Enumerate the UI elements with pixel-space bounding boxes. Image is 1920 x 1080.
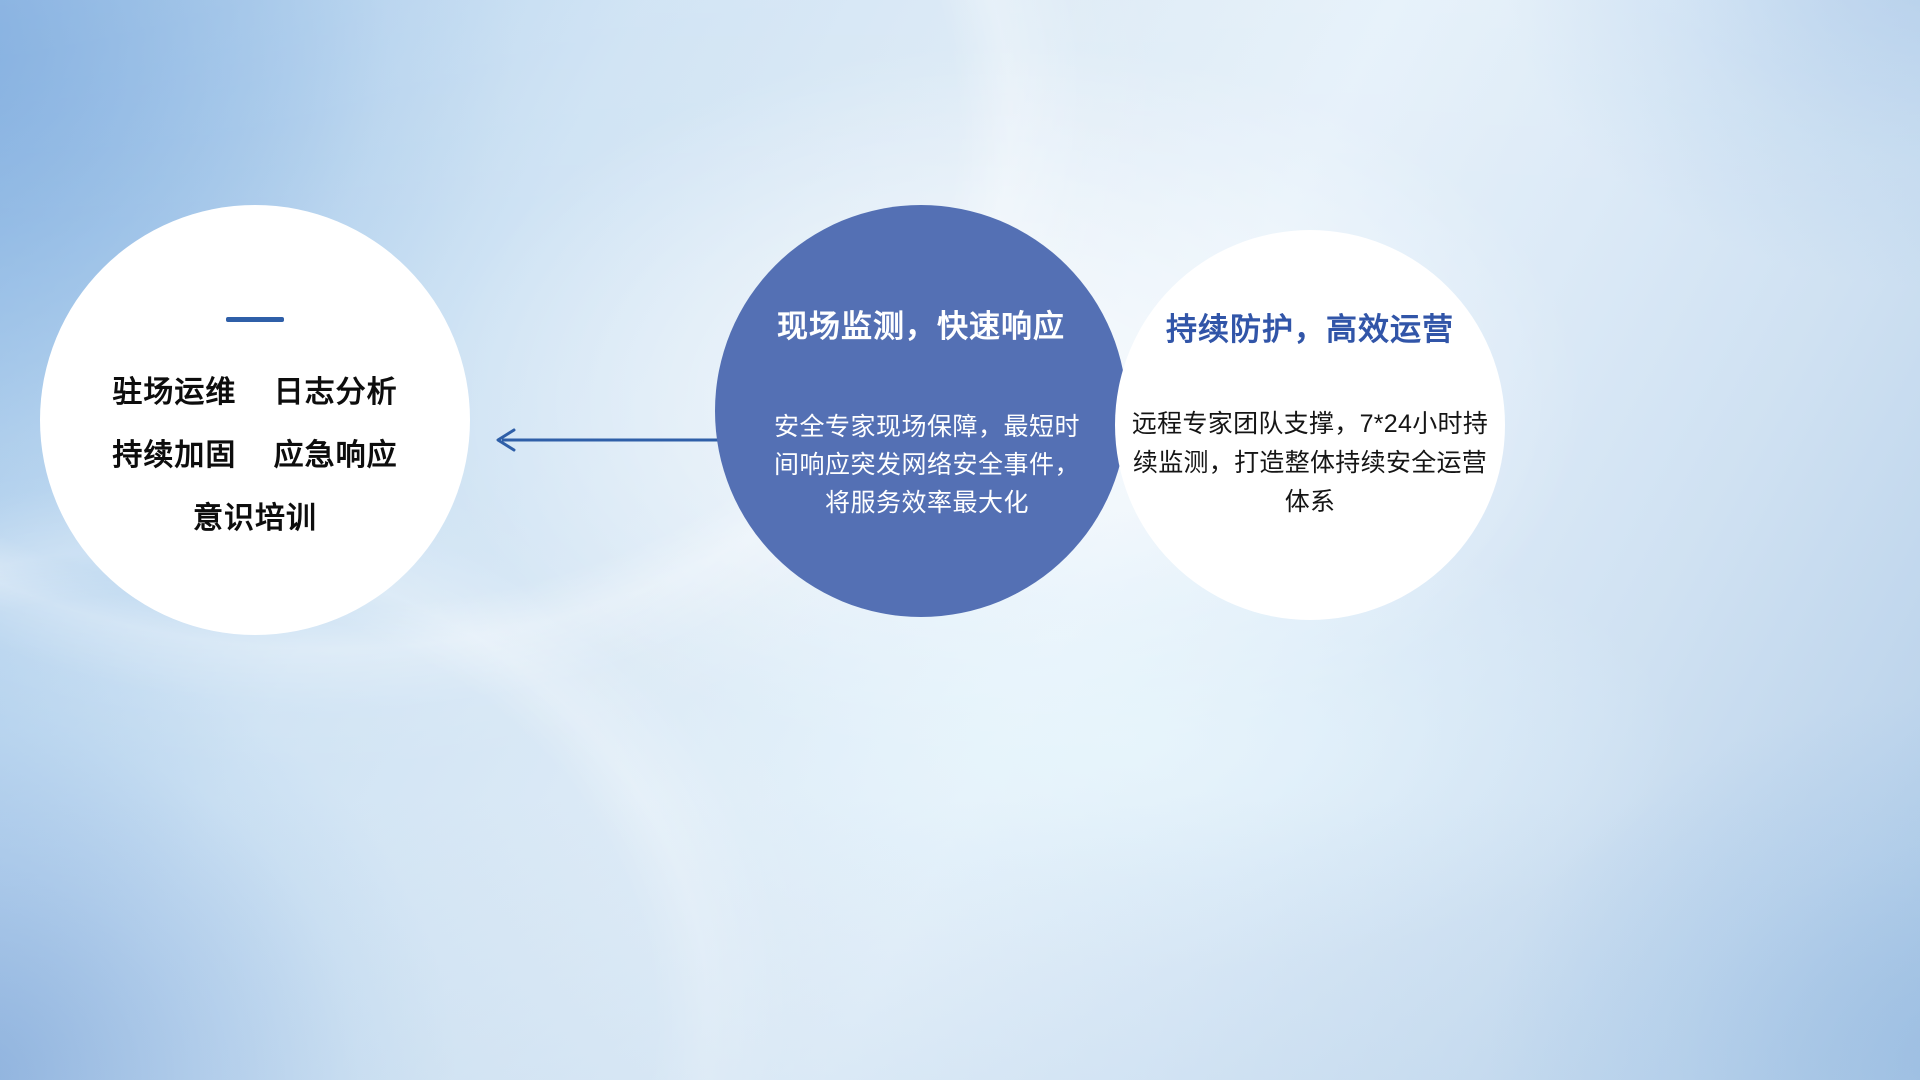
continuous-protection-title: 持续防护，高效运营 — [1115, 304, 1505, 349]
onsite-monitoring-title: 现场监测，快速响应 — [715, 301, 1127, 346]
capability-line-2: 持续加固 应急响应 — [112, 441, 397, 471]
arrow-left-icon — [480, 418, 720, 462]
capability-line-1: 驻场运维 日志分析 — [112, 378, 397, 408]
onsite-monitoring-circle: 现场监测，快速响应 安全专家现场保障，最短时间响应突发网络安全事件，将服务效率最… — [715, 205, 1127, 617]
slide-canvas: 驻场运维 日志分析 持续加固 应急响应 意识培训 现场监测，快速响应 安全专家现… — [0, 0, 1920, 1080]
continuous-protection-body: 远程专家团队支撑，7*24小时持续监测，打造整体持续安全运营体系 — [1129, 405, 1491, 522]
capability-line-3: 意识培训 — [193, 504, 317, 534]
horizontal-dash-divider — [226, 317, 284, 322]
capability-circle-left: 驻场运维 日志分析 持续加固 应急响应 意识培训 — [40, 205, 470, 635]
continuous-protection-circle: 持续防护，高效运营 远程专家团队支撑，7*24小时持续监测，打造整体持续安全运营… — [1115, 230, 1505, 620]
onsite-monitoring-body: 安全专家现场保障，最短时间响应突发网络安全事件，将服务效率最大化 — [765, 408, 1089, 522]
